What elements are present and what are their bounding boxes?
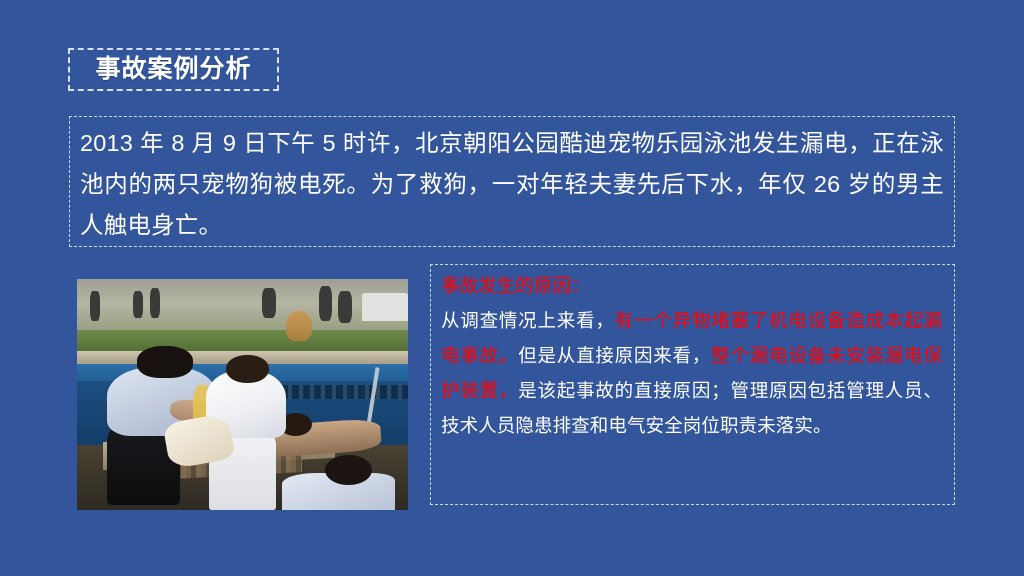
accident-summary-text: 2013 年 8 月 9 日下午 5 时许，北京朝阳公园酷迪宠物乐园泳池发生漏电…: [80, 123, 944, 246]
photo-bystander: [90, 291, 100, 321]
photo-bystander: [262, 288, 275, 318]
accident-summary-box: 2013 年 8 月 9 日下午 5 时许，北京朝阳公园酷迪宠物乐园泳池发生漏电…: [69, 116, 955, 247]
accident-scene-photo: [77, 279, 408, 510]
photo-bystander: [319, 286, 332, 321]
cause-analysis-box: 事故发生的原因： 从调查情况上来看，有一个异物堵塞了机电设备造成本起漏电事故。但…: [430, 264, 955, 505]
cause-line2-white: 但是从直接原因来看，: [518, 345, 711, 366]
photo-rescuer-woman-head: [226, 355, 269, 383]
photo-crouching-person-head: [325, 455, 371, 485]
cause-analysis-text: 事故发生的原因： 从调查情况上来看，有一个异物堵塞了机电设备造成本起漏电事故。但…: [441, 268, 942, 443]
photo-bystander: [133, 291, 143, 319]
cause-heading: 事故发生的原因：: [441, 268, 942, 303]
cause-line1-white: 从调查情况上来看，: [441, 310, 615, 331]
photo-dog: [286, 311, 312, 341]
photo-rescuer-man-head: [137, 346, 193, 378]
photo-bystander: [338, 291, 351, 323]
slide-title-box: 事故案例分析: [68, 48, 279, 91]
page-title: 事故案例分析: [95, 57, 251, 82]
photo-bystander: [150, 288, 160, 318]
photo-vehicle: [362, 293, 408, 321]
